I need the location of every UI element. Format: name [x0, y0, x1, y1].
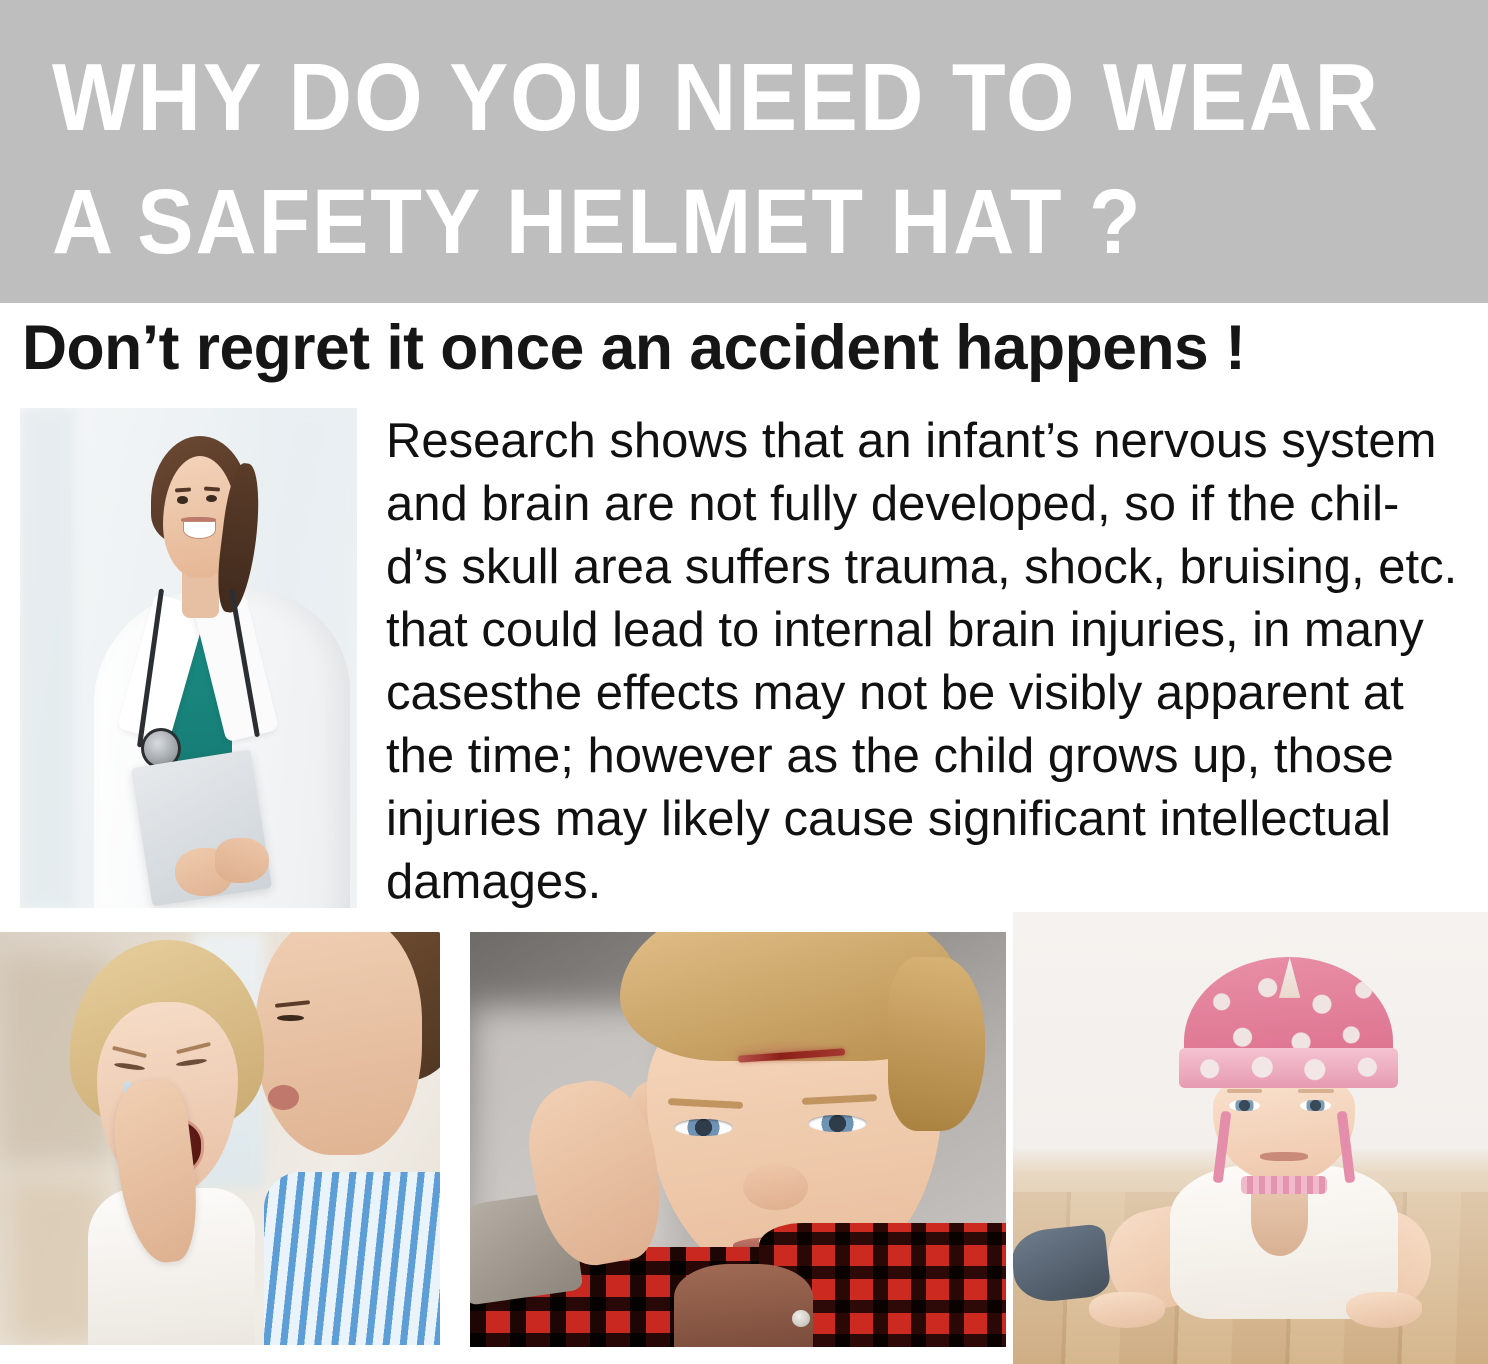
shirt-collar — [674, 1264, 813, 1347]
hand-right — [1346, 1292, 1422, 1328]
helmet-front-band — [1179, 1048, 1398, 1089]
subtitle-headline: Don’t regret it once an accident happens… — [22, 312, 1459, 384]
injured-boy-photo — [470, 932, 1006, 1347]
body-paragraph: Research shows that an infant’s nervous … — [386, 410, 1466, 914]
body-line: the time; however as the child grows up,… — [386, 725, 1466, 788]
smile — [183, 521, 215, 539]
doctor-photo — [20, 408, 357, 908]
eyebrow-left — [1227, 1089, 1263, 1093]
eye-left — [177, 496, 188, 504]
mother-striped-shirt — [264, 1172, 440, 1345]
body-line: d’s skull area suffers trauma, shock, br… — [386, 536, 1466, 599]
background-blur-strip — [20, 408, 74, 908]
mother-lips — [268, 1085, 299, 1110]
hand-left — [1089, 1292, 1165, 1328]
helmet-baby-photo — [1013, 912, 1488, 1364]
helmet-chin-strap — [1241, 1176, 1327, 1194]
mother-face — [255, 932, 422, 1155]
body-line: casesthe effects may not be visibly appa… — [386, 662, 1466, 725]
denim-legs — [1013, 1224, 1112, 1306]
body-line: Research shows that an infant’s nervous … — [386, 410, 1466, 473]
header-title-line-1: WHY DO YOU NEED TO WEAR — [52, 50, 1380, 146]
body-line: that could lead to internal brain injuri… — [386, 599, 1466, 662]
header-title-line-2: A SAFETY HELMET HAT ? — [52, 176, 1142, 268]
body-line: injuries may likely cause significant in… — [386, 788, 1466, 851]
eyebrow-right — [1298, 1089, 1334, 1093]
crying-child-photo — [0, 932, 440, 1345]
mouth — [1260, 1152, 1308, 1161]
eye-right — [808, 1115, 867, 1132]
eyebrow-right — [204, 486, 220, 491]
hand-right — [215, 838, 269, 883]
body-line: damages. — [386, 851, 1466, 914]
body-line: and brain are not fully developed, so if… — [386, 473, 1466, 536]
mother-eye — [277, 1015, 303, 1021]
neckline — [1251, 1183, 1308, 1255]
header-band: WHY DO YOU NEED TO WEAR A SAFETY HELMET … — [0, 0, 1488, 303]
eye-left — [674, 1119, 733, 1136]
nose — [743, 1164, 807, 1210]
hair-side — [888, 957, 984, 1131]
